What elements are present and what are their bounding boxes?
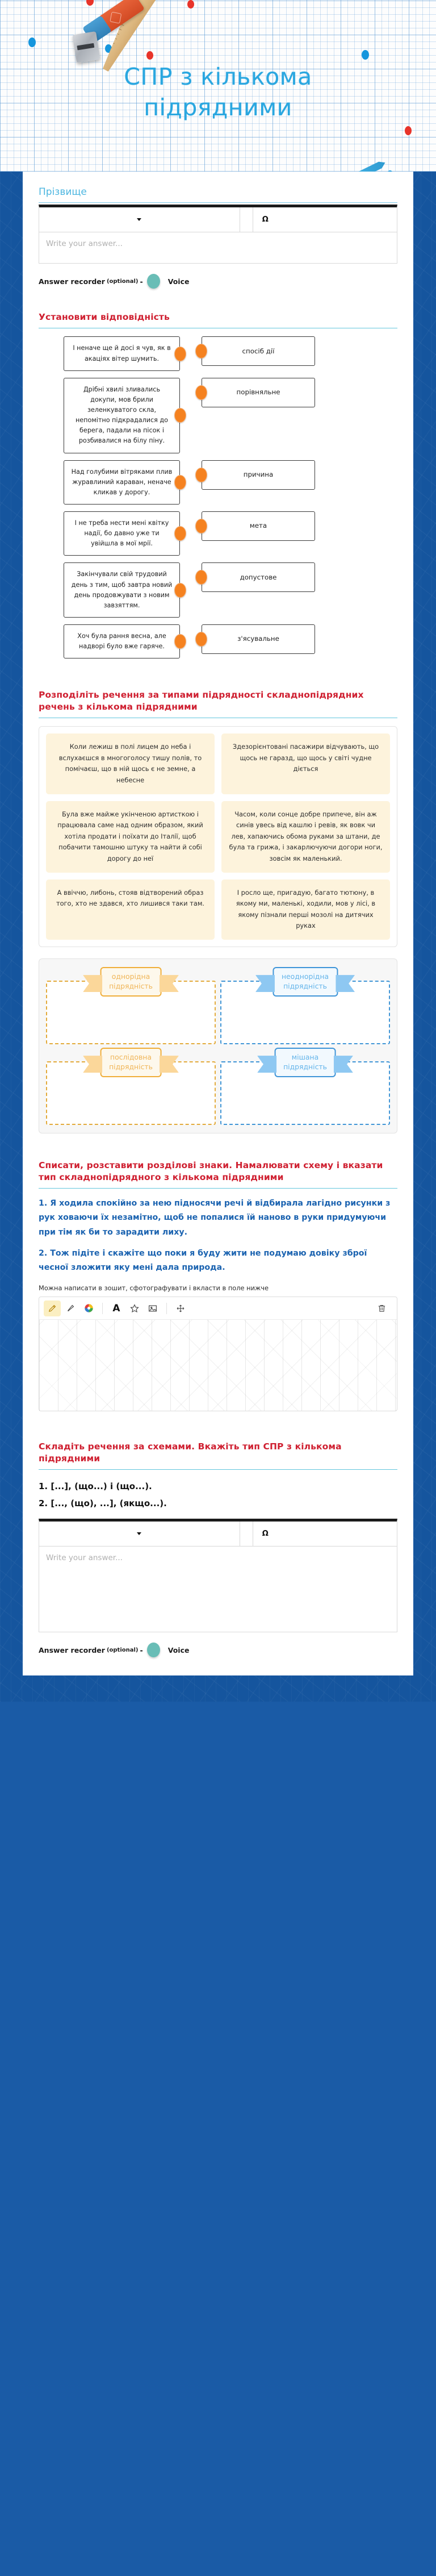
sorting-card[interactable]: Була вже майже укінченою артисткою і пра…: [46, 801, 215, 873]
sorting-card[interactable]: Здезорієнтовані пасажири відчувають, що …: [221, 733, 390, 794]
connector-knob[interactable]: [195, 468, 207, 482]
matching-row: Хоч була рання весна, але надворі було в…: [39, 624, 397, 658]
divider: [39, 1188, 397, 1189]
drawing-toolbar: A: [39, 1297, 397, 1320]
matching-row: Дрібні хвилі зливались докупи, мов брили…: [39, 378, 397, 453]
decor-dot: [405, 126, 412, 135]
matching-right-item[interactable]: мета: [202, 511, 315, 541]
matching-left-text: Хоч була рання весна, але надворі було в…: [64, 624, 180, 658]
divider: [39, 718, 397, 718]
matching-left-item[interactable]: Закінчували свій трудовий день з тим, що…: [64, 562, 180, 618]
matching-row: Над голубими вітряками плив журавлиний к…: [39, 460, 397, 505]
matching-right-item[interactable]: спосіб дії: [202, 336, 315, 366]
page-title: СПР з кількома підрядними: [0, 61, 436, 123]
drop-zone-мішана[interactable]: мішанапідрядність: [220, 1048, 390, 1125]
matching-right-item[interactable]: допустове: [202, 562, 315, 592]
page-title-line1: СПР з кількома: [0, 61, 436, 92]
divider: [39, 1469, 397, 1470]
sorting-card[interactable]: Часом, коли сонце добре припече, він аж …: [221, 801, 390, 873]
editor-toolbar: Ω: [39, 1522, 397, 1547]
copy-task-note: Можна написати в зошит, сфотографувати і…: [39, 1284, 397, 1292]
drop-zone-label-line1: послідовна: [109, 1053, 153, 1062]
toolbar-divider: [166, 1303, 167, 1314]
name-answer-editor[interactable]: Ω Write your answer...: [39, 205, 397, 264]
drop-zone-label-line2: підрядність: [282, 982, 329, 991]
matching-right-item[interactable]: порівняльне: [202, 378, 315, 407]
brush-icon[interactable]: [62, 1300, 79, 1316]
omega-icon[interactable]: Ω: [253, 215, 274, 224]
matching-left-text: Дрібні хвилі зливались докупи, мов брили…: [64, 378, 180, 453]
drop-zone-label-line1: мішана: [283, 1053, 327, 1062]
recorder-optional: (optional): [107, 1647, 139, 1653]
editor-toolbar: Ω: [39, 207, 397, 232]
drawing-widget[interactable]: A: [39, 1297, 397, 1411]
drop-zone-однорідна[interactable]: одноріднапідрядність: [46, 967, 216, 1044]
pencil-sharpener-icon: [72, 31, 100, 63]
matching-right-text: допустове: [202, 562, 315, 592]
recorder-label: Answer recorder: [39, 1646, 105, 1654]
record-button[interactable]: [147, 274, 160, 289]
connector-knob[interactable]: [174, 475, 186, 490]
decor-dot: [86, 0, 94, 6]
move-icon[interactable]: [172, 1300, 189, 1316]
color-wheel-icon[interactable]: [80, 1300, 97, 1316]
connector-knob[interactable]: [195, 519, 207, 533]
format-dropdown[interactable]: [39, 1522, 240, 1546]
drop-zone-неоднорідна[interactable]: неодноріднапідрядність: [220, 967, 390, 1044]
recorder-dash: -: [140, 1646, 143, 1654]
connector-knob[interactable]: [195, 385, 207, 400]
recorder-optional: (optional): [107, 278, 139, 285]
drop-zone-label-line1: однорідна: [109, 972, 153, 982]
sorting-card[interactable]: А ввіччю, либонь, стояв відтворений обра…: [46, 879, 215, 940]
copy-task-item: 2. Тож підіте і скажіте що поки я буду ж…: [39, 1247, 397, 1276]
divider: [39, 202, 397, 203]
recorder-voice-label: Voice: [168, 277, 190, 286]
copy-task-item: 1. Я ходила спокійно за нею підносячи ре…: [39, 1197, 397, 1240]
name-input[interactable]: Write your answer...: [39, 232, 397, 263]
drop-zone-label: одноріднапідрядність: [100, 967, 162, 996]
recorder-voice-label: Voice: [168, 1646, 190, 1654]
matching-title: Установити відповідність: [39, 311, 397, 323]
connector-knob[interactable]: [174, 408, 186, 423]
trash-icon[interactable]: [373, 1300, 390, 1316]
recorder-label: Answer recorder: [39, 277, 105, 286]
schema-answer-editor[interactable]: Ω Write your answer...: [39, 1519, 397, 1632]
hero-banner: СПР з кількома підрядними: [0, 0, 436, 172]
name-section: Прізвище Ω Write your answer... Answer r…: [23, 172, 413, 292]
matching-right-text: з'ясувальне: [202, 624, 315, 654]
schema-task-section: Складіть речення за схемами. Вкажіть тип…: [23, 1415, 413, 1661]
decor-dot: [362, 50, 369, 60]
matching-left-text: Над голубими вітряками плив журавлиний к…: [64, 460, 180, 505]
drop-zone-послідовна[interactable]: послідовнапідрядність: [46, 1048, 216, 1125]
connector-knob[interactable]: [195, 344, 207, 359]
recorder-dash: -: [140, 277, 143, 286]
matching-right-text: мета: [202, 511, 315, 541]
drawing-canvas[interactable]: [39, 1320, 397, 1411]
matching-row: І не треба нести мені квітку надії, бо д…: [39, 511, 397, 556]
matching-left-item[interactable]: І неначе ще й досі я чув, як в акаціях в…: [64, 336, 180, 370]
pencil-icon[interactable]: [44, 1300, 61, 1316]
decor-dot: [387, 170, 393, 172]
drop-zone-label-line2: підрядність: [109, 1062, 153, 1072]
divider: [39, 328, 397, 328]
connector-knob[interactable]: [174, 526, 186, 541]
decor-dot: [187, 0, 194, 9]
matching-right-text: порівняльне: [202, 378, 315, 407]
connector-knob[interactable]: [174, 583, 186, 598]
star-icon[interactable]: [126, 1300, 143, 1316]
drop-zone-label-line2: підрядність: [283, 1062, 327, 1072]
matching-left-text: І не треба нести мені квітку надії, бо д…: [64, 511, 180, 556]
drop-zone-label: неодноріднапідрядність: [272, 967, 338, 996]
matching-right-item[interactable]: причина: [202, 460, 315, 490]
decor-dot: [146, 51, 153, 60]
format-dropdown[interactable]: [39, 207, 240, 232]
toolbar-divider: [102, 1303, 103, 1314]
decor-dot: [28, 37, 36, 47]
schema-task-title: Складіть речення за схемами. Вкажіть тип…: [39, 1441, 397, 1464]
drop-zone-label: мішанапідрядність: [274, 1048, 336, 1077]
image-icon[interactable]: [144, 1300, 161, 1316]
connector-knob[interactable]: [174, 634, 186, 649]
connector-knob[interactable]: [174, 347, 186, 361]
schema-item: 2. [..., (що), ...], (якщо...).: [39, 1495, 397, 1512]
sorting-section: Розподіліть речення за типами підрядност…: [23, 669, 413, 1137]
sorting-card[interactable]: Коли лежиш в полі лицем до неба і вслуха…: [46, 733, 215, 794]
record-button[interactable]: [147, 1643, 160, 1657]
sorting-drop-zones: одноріднапідрядністьнеодноріднапідрядніс…: [39, 958, 397, 1133]
chevron-down-icon: [137, 218, 141, 221]
schema-input[interactable]: Write your answer...: [39, 1547, 397, 1632]
text-icon[interactable]: A: [108, 1300, 125, 1316]
page-title-line2: підрядними: [0, 92, 436, 123]
sorting-card-pool: Коли лежиш в полі лицем до неба і вслуха…: [39, 726, 397, 947]
sorting-card[interactable]: І росло ще, пригадую, багато тютюну, в я…: [221, 879, 390, 940]
matching-left-item[interactable]: І не треба нести мені квітку надії, бо д…: [64, 511, 180, 556]
matching-left-text: Закінчували свій трудовий день з тим, що…: [64, 562, 180, 618]
matching-row: Закінчували свій трудовий день з тим, що…: [39, 562, 397, 618]
copy-task-title: Списати, розставити розділові знаки. Нам…: [39, 1160, 397, 1183]
drop-zone-label-line1: неоднорідна: [282, 972, 329, 982]
toolbar-gap: [240, 207, 253, 232]
connector-knob[interactable]: [195, 570, 207, 585]
schema-item: 1. [...], (що...) і (що...).: [39, 1478, 397, 1495]
matching-left-item[interactable]: Над голубими вітряками плив журавлиний к…: [64, 460, 180, 505]
matching-section: Установити відповідність І неначе ще й д…: [23, 292, 413, 669]
answer-recorder: Answer recorder (optional) - Voice: [39, 1643, 397, 1657]
drop-zone-label: послідовнапідрядність: [100, 1048, 162, 1077]
toolbar-gap: [240, 1522, 253, 1546]
matching-right-text: причина: [202, 460, 315, 490]
matching-right-text: спосіб дії: [202, 336, 315, 366]
copy-task-section: Списати, розставити розділові знаки. Нам…: [23, 1137, 413, 1415]
page-footer-space: [0, 1675, 436, 1702]
connector-knob[interactable]: [195, 632, 207, 647]
matching-row: І неначе ще й досі я чув, як в акаціях в…: [39, 336, 397, 370]
matching-left-text: І неначе ще й досі я чув, як в акаціях в…: [64, 336, 180, 370]
matching-rows: І неначе ще й досі я чув, як в акаціях в…: [39, 336, 397, 658]
chevron-down-icon: [137, 1532, 141, 1535]
drop-zone-label-line2: підрядність: [109, 982, 153, 991]
content-sheet: Прізвище Ω Write your answer... Answer r…: [23, 172, 413, 1675]
sorting-title: Розподіліть речення за типами підрядност…: [39, 689, 397, 712]
omega-icon[interactable]: Ω: [253, 1529, 274, 1538]
pencil-icon: [348, 159, 387, 172]
name-label: Прізвище: [39, 186, 397, 198]
matching-left-item[interactable]: Дрібні хвилі зливались докупи, мов брили…: [64, 378, 180, 453]
matching-left-item[interactable]: Хоч була рання весна, але надворі було в…: [64, 624, 180, 658]
matching-right-item[interactable]: з'ясувальне: [202, 624, 315, 654]
answer-recorder: Answer recorder (optional) - Voice: [39, 274, 397, 289]
